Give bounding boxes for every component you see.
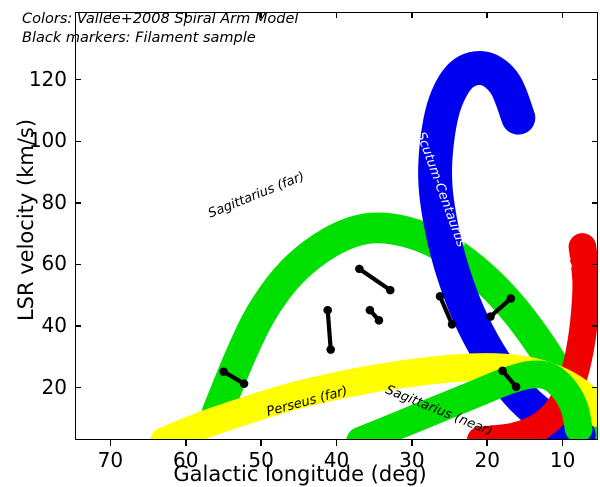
x-tick-top-60 <box>185 12 187 18</box>
y-tick-right-60 <box>592 264 598 266</box>
y-tick-right-40 <box>592 325 598 327</box>
x-tick-30 <box>411 440 413 446</box>
filament-marker <box>366 306 384 325</box>
y-tick-right-100 <box>592 141 598 143</box>
x-tick-50 <box>260 440 262 446</box>
y-tick-40 <box>75 325 81 327</box>
y-tick-20 <box>75 387 81 389</box>
filament-marker <box>323 306 335 354</box>
plot-area: Sagittarius (far)Scutum-CentaurusNormaPe… <box>75 12 598 440</box>
filament-marker <box>355 265 395 295</box>
x-tick-top-50 <box>260 12 262 18</box>
x-tick-70 <box>110 440 112 446</box>
y-tick-120 <box>75 79 81 81</box>
y-tick-60 <box>75 264 81 266</box>
x-tick-top-40 <box>336 12 338 18</box>
annotation-line-colors: Colors: Vallee+2008 Spiral Arm Model <box>22 10 298 29</box>
annotation-line-markers: Black markers: Filament sample <box>22 29 298 48</box>
y-tick-label-20: 20 <box>7 375 67 399</box>
y-tick-label-120: 120 <box>7 67 67 91</box>
y-axis-label: LSR velocity (km/s) <box>14 90 38 350</box>
x-tick-20 <box>486 440 488 446</box>
figure-canvas: Sagittarius (far)Scutum-CentaurusNormaPe… <box>0 0 600 487</box>
x-tick-top-20 <box>486 12 488 18</box>
y-tick-right-20 <box>592 387 598 389</box>
x-tick-top-10 <box>562 12 564 18</box>
annotation-text-block: Colors: Vallee+2008 Spiral Arm Model Bla… <box>22 10 298 48</box>
x-tick-top-30 <box>411 12 413 18</box>
x-tick-10 <box>562 440 564 446</box>
y-tick-100 <box>75 141 81 143</box>
y-tick-80 <box>75 202 81 204</box>
x-axis-label: Galactic longitude (deg) <box>0 462 600 486</box>
x-tick-40 <box>336 440 338 446</box>
y-tick-right-120 <box>592 79 598 81</box>
arm-bands-group <box>164 68 598 440</box>
y-tick-right-80 <box>592 202 598 204</box>
spiral-arm-layer <box>76 13 598 440</box>
x-tick-top-70 <box>110 12 112 18</box>
x-tick-60 <box>185 440 187 446</box>
